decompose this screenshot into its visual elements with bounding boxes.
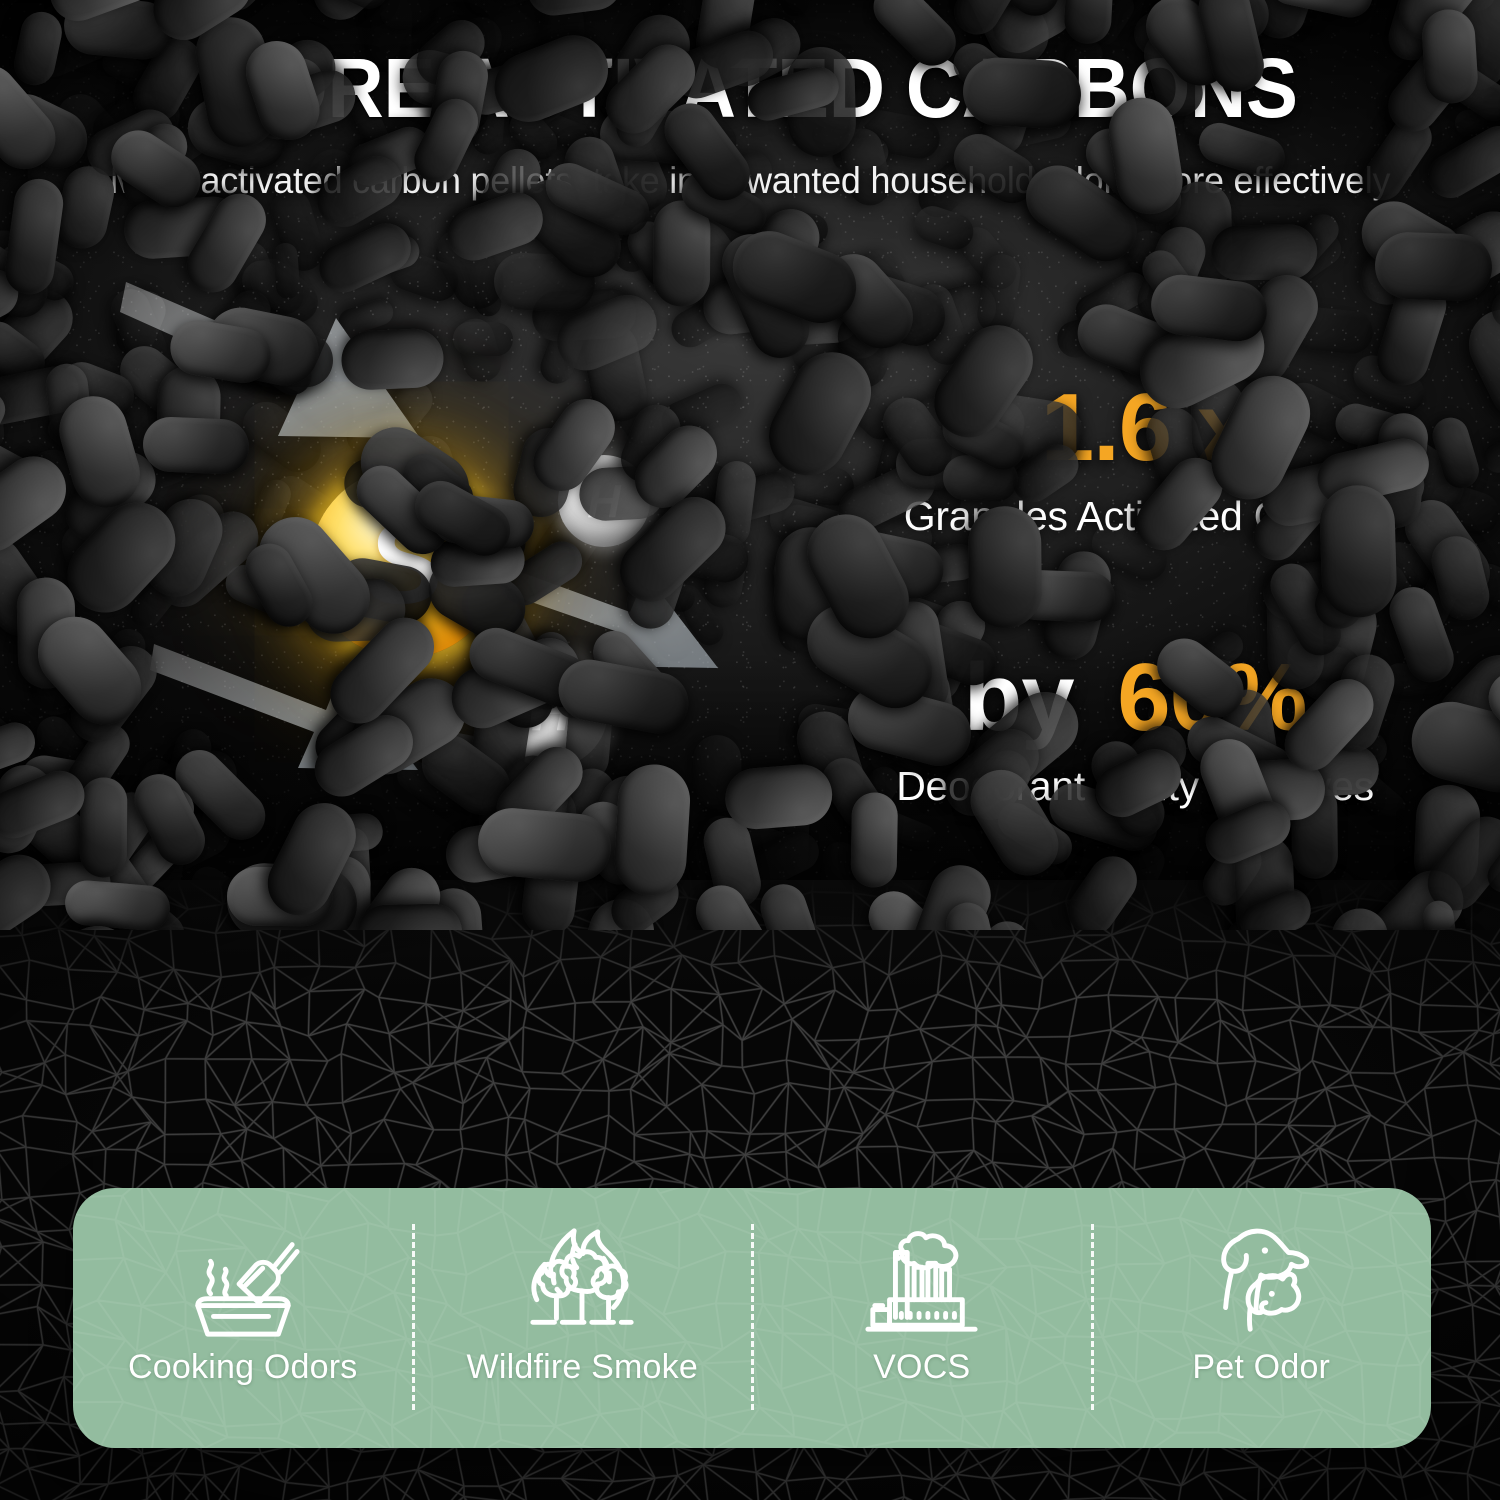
feature-item-cooking-odors[interactable]: Cooking Odors <box>73 1188 413 1448</box>
activated-carbon-pellet-background <box>0 0 1500 930</box>
feature-label-vocs: VOCS <box>873 1348 970 1387</box>
feature-item-vocs[interactable]: VOCS <box>752 1188 1092 1448</box>
factory-vocs-icon <box>863 1222 981 1342</box>
cooking-pan-icon <box>184 1222 302 1342</box>
odor-feature-panel: Cooking Odors <box>73 1188 1431 1448</box>
feature-label-pet-odor: Pet Odor <box>1192 1348 1330 1387</box>
feature-label-cooking-odors: Cooking Odors <box>128 1348 357 1387</box>
pet-dog-cat-icon <box>1202 1222 1320 1342</box>
feature-item-pet-odor[interactable]: Pet Odor <box>1092 1188 1432 1448</box>
product-feature-graphic: S H H MORE ACTIVATED CARBONS More activa… <box>0 0 1500 1500</box>
feature-item-wildfire-smoke[interactable]: Wildfire Smoke <box>413 1188 753 1448</box>
feature-label-wildfire-smoke: Wildfire Smoke <box>467 1348 698 1387</box>
wildfire-smoke-icon <box>523 1222 641 1342</box>
